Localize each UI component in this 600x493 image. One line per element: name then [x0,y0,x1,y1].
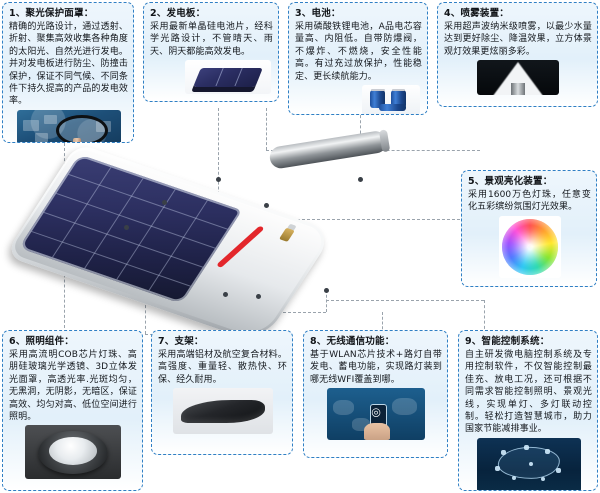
callout-dot [223,292,228,297]
feature-body-9: 自主研发微电脑控制系统及专用控制软件，不仅智能控制最佳充、放电工况，还可根据不同… [465,349,592,436]
feature-panel-4[interactable]: 4、喷雾装置： 采用超声波纳米级喷雾，以最少水量达到更好除尘、降温效果，立方体景… [437,2,598,107]
lamp-head [4,143,334,344]
feature-title-4: 4、喷雾装置： [444,7,592,20]
feature-title-3: 3、电池： [295,7,422,20]
feature-title-1: 1、聚光保护面罩： [9,7,128,20]
feature-panel-5[interactable]: 5、景观亮化装置： 采用1600万色灯珠，任意变化五彩缤纷氛围灯光效果。 [461,170,597,287]
mounting-pole [268,130,388,170]
feature-body-2: 采用最新单晶硅电池片，经科学光路设计，不管晴天、雨天、阴天都能高效发电。 [150,21,273,58]
battery-icon [362,85,420,115]
cob-lens-icon [25,425,121,479]
color-wheel-icon [499,216,561,278]
callout-dot [264,203,269,208]
feature-title-9: 9、智能控制系统： [465,335,592,348]
callout-dot [256,294,261,299]
feature-body-7: 采用高端铝材及航空复合材料。高强度、重量轻、散热快、环保、经久耐用。 [158,349,287,386]
feature-panel-8[interactable]: 8、无线通信功能： 基于WLAN芯片技术+路灯自带发电、蓄电功能，实现路灯装到哪… [303,330,448,458]
feature-body-4: 采用超声波纳米级喷雾，以最少水量达到更好除尘、降温效果，立方体景观灯效果更炫丽多… [444,21,592,58]
bracket-arm-icon [173,388,273,434]
wifi-glyph: ◎ [371,407,381,418]
feature-title-8: 8、无线通信功能： [310,335,442,348]
feature-panel-6[interactable]: 6、照明组件： 采用高流明COB芯片灯珠、高朋硅玻璃光学透镜、3D立体发光面罩，… [2,330,143,491]
feature-title-6: 6、照明组件： [9,335,137,348]
feature-body-8: 基于WLAN芯片技术+路灯自带发电、蓄电功能，实现路灯装到哪无线WFI覆盖到哪。 [310,349,442,386]
connector-line [484,300,485,334]
feature-title-2: 2、发电板： [150,7,273,20]
feature-panel-2[interactable]: 2、发电板： 采用最新单晶硅电池片，经科学光路设计，不管晴天、雨天、阴天都能高效… [143,2,279,102]
feature-title-5: 5、景观亮化装置： [468,175,591,188]
solar-cell-icon [185,60,271,94]
callout-dot [124,225,129,230]
feature-body-1: 精确的光路设计，通过透射、折射、聚集高效收集各种角度的太阳光、自然光进行发电。并… [9,21,128,108]
feature-body-5: 采用1600万色灯珠，任意变化五彩缤纷氛围灯光效果。 [468,189,591,214]
callout-dot [324,288,329,293]
feature-panel-3[interactable]: 3、电池： 采用磷酸铁锂电池，A品电芯容量高、内阻低。自带防爆阀，不爆炸、不燃烧… [288,2,428,115]
feature-panel-7[interactable]: 7、支架： 采用高端铝材及航空复合材料。高强度、重量轻、散热快、环保、经久耐用。 [151,330,293,455]
magnifier-icon [17,110,121,143]
feature-title-7: 7、支架： [158,335,287,348]
feature-panel-9[interactable]: 9、智能控制系统： 自主研发微电脑控制系统及专用控制软件，不仅智能控制最佳充、放… [458,330,598,491]
callout-dot [358,177,363,182]
spray-nozzle-icon [477,60,559,95]
callout-dot [162,200,167,205]
infographic-canvas: 1、聚光保护面罩： 精确的光路设计，通过透射、折射、聚集高效收集各种角度的太阳光… [0,0,600,493]
solar-street-light-illustration [38,140,388,320]
feature-body-6: 采用高流明COB芯片灯珠、高朋硅玻璃光学透镜、3D立体发光面罩，高透光率.光斑均… [9,349,137,423]
wifi-icon: ◎ [327,388,425,440]
callout-dot [216,177,221,182]
feature-panel-1[interactable]: 1、聚光保护面罩： 精确的光路设计，通过透射、折射、聚集高效收集各种角度的太阳光… [2,2,134,143]
pole-end-cap [379,129,390,152]
smart-control-icon [477,438,581,491]
feature-body-3: 采用磷酸铁锂电池，A品电芯容量高、内阻低。自带防爆阀，不爆炸、不燃烧，安全性能高… [295,21,422,83]
